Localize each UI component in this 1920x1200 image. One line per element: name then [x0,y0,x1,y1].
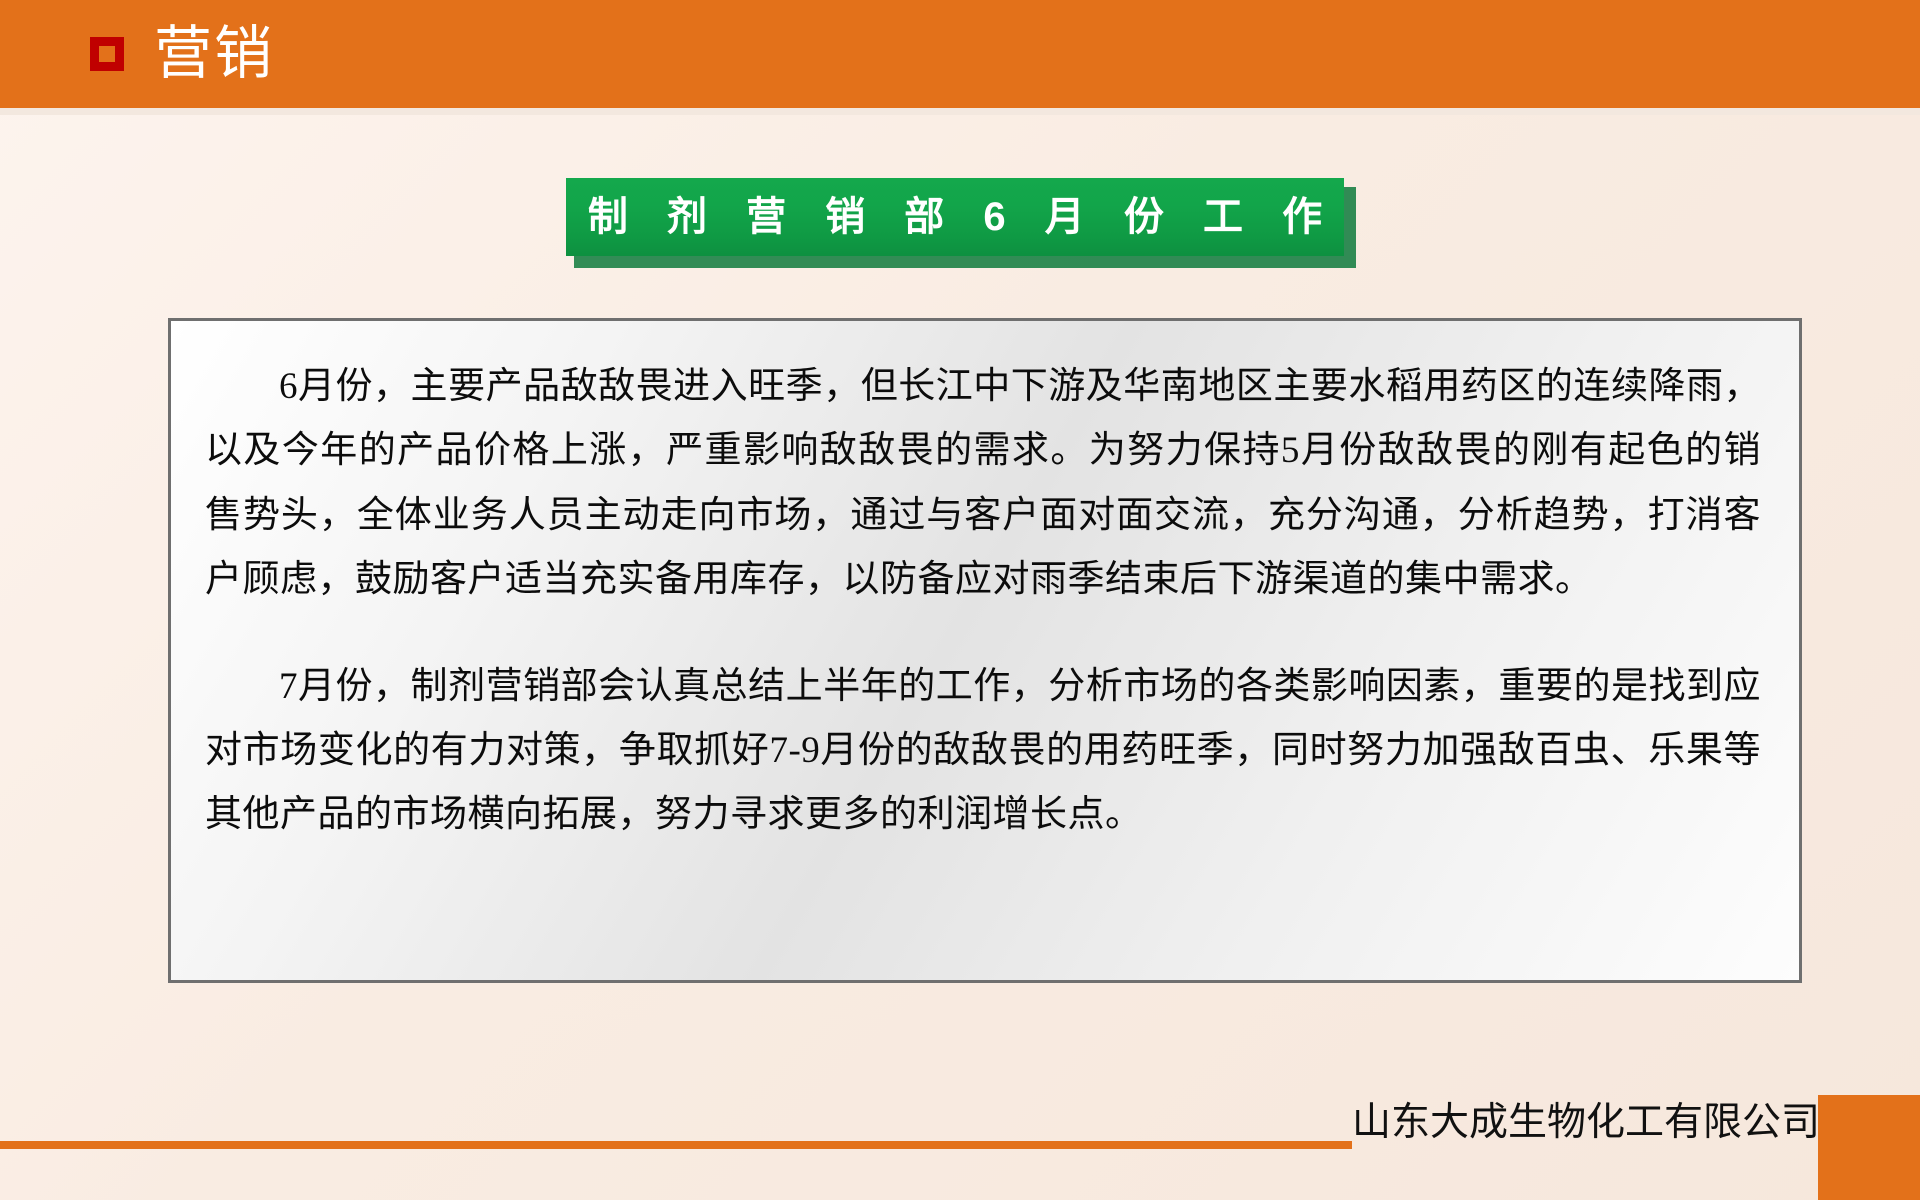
body-paragraph-2: 7月份，制剂营销部会认真总结上半年的工作，分析市场的各类影响因素，重要的是找到应… [205,655,1761,848]
body-paragraph-1: 6月份，主要产品敌敌畏进入旺季，但长江中下游及华南地区主要水稻用药区的连续降雨，… [205,355,1761,613]
page-title: 营销 [154,25,274,83]
footer-company-name: 山东大成生物化工有限公司 [1352,1103,1852,1142]
banner-title: 制 剂 营 销 部 6 月 份 工 作 [574,197,1336,237]
header-divider [0,108,1920,115]
footer-rule [0,1141,1352,1149]
content-panel: 6月份，主要产品敌敌畏进入旺季，但长江中下游及华南地区主要水稻用药区的连续降雨，… [168,318,1802,983]
banner-box: 制 剂 营 销 部 6 月 份 工 作 [566,178,1344,256]
slide-header-bar: 营销 [0,0,1920,108]
red-square-bullet-icon [90,37,124,71]
footer-corner-block [1818,1095,1920,1200]
section-banner: 制 剂 营 销 部 6 月 份 工 作 [566,178,1356,268]
